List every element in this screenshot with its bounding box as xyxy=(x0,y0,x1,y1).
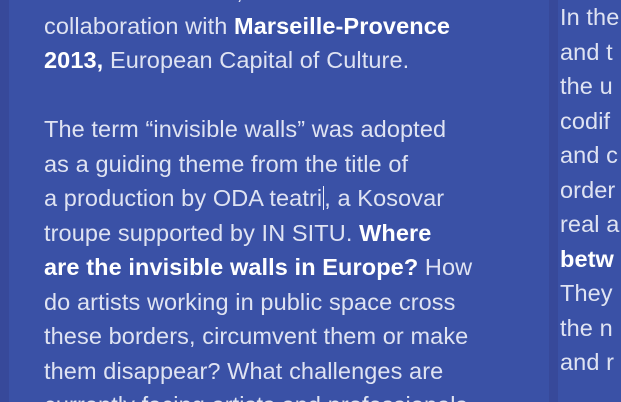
text-run-bold: 2013, xyxy=(44,47,103,73)
text-run: them disappear? What challenges are xyxy=(44,358,443,384)
text-line[interactable]: The term “invisible walls” was adopted xyxy=(44,112,544,147)
text-run: do artists working in public space cross xyxy=(44,289,456,315)
text-line[interactable]: betw xyxy=(560,242,621,277)
text-run: as a guiding theme from the title of xyxy=(44,151,408,177)
text-line[interactable]: the u xyxy=(560,69,621,104)
text-run: and t xyxy=(560,39,613,65)
text-line[interactable]: real a xyxy=(560,207,621,242)
text-run: collaboration with xyxy=(44,13,234,39)
text-run-bold: betw xyxy=(560,246,614,272)
text-run: these borders, circumvent them or make xyxy=(44,323,468,349)
text-run: order xyxy=(560,177,615,203)
text-run: In the xyxy=(560,4,619,30)
text-run: They xyxy=(560,280,613,306)
text-line[interactable]: do artists working in public space cross xyxy=(44,285,544,320)
text-line[interactable]: order xyxy=(560,173,621,208)
text-run: and r xyxy=(560,349,614,375)
text-line[interactable]: collaboration with Marseille-Provence xyxy=(44,9,544,44)
text-line[interactable]: as a guiding theme from the title of xyxy=(44,147,544,182)
text-run: and c xyxy=(560,142,618,168)
text-line[interactable]: are the invisible walls in Europe? How xyxy=(44,250,544,285)
text-run: real a xyxy=(560,211,619,237)
text-line[interactable]: In the xyxy=(560,0,621,35)
text-run: the Mediterranean, in xyxy=(44,0,268,4)
text-run: codif xyxy=(560,108,610,134)
text-run: the n xyxy=(560,315,613,341)
text-line[interactable]: and r xyxy=(560,345,621,380)
document-page: the Mediterranean, incollaboration with … xyxy=(0,0,621,402)
text-line[interactable]: troupe supported by IN SITU. Where xyxy=(44,216,544,251)
text-run-bold: Where xyxy=(359,220,431,246)
text-run: a production by ODA teatri xyxy=(44,185,322,211)
text-run: How xyxy=(418,254,472,280)
text-line[interactable]: They xyxy=(560,276,621,311)
text-run: currently facing artists and professiona… xyxy=(44,392,467,402)
text-run: European Capital of Culture. xyxy=(103,47,409,73)
column-gutter-divider xyxy=(549,0,558,402)
page-left-gutter xyxy=(0,0,9,402)
text-run: troupe supported by IN SITU. xyxy=(44,220,359,246)
text-line[interactable]: the n xyxy=(560,311,621,346)
text-run-bold: are the invisible walls in Europe? xyxy=(44,254,418,280)
text-line[interactable]: and c xyxy=(560,138,621,173)
text-line[interactable]: currently facing artists and professiona… xyxy=(44,388,544,402)
text-run: the u xyxy=(560,73,613,99)
text-line[interactable]: them disappear? What challenges are xyxy=(44,354,544,389)
text-run-bold: Marseille-Provence xyxy=(234,13,450,39)
text-line[interactable]: these borders, circumvent them or make xyxy=(44,319,544,354)
text-run: The term “invisible walls” was adopted xyxy=(44,116,446,142)
text-line[interactable]: codif xyxy=(560,104,621,139)
text-line[interactable]: the Mediterranean, in xyxy=(44,0,544,9)
text-line[interactable]: a production by ODA teatri, a Kosovar xyxy=(44,181,544,216)
text-column-left[interactable]: the Mediterranean, incollaboration with … xyxy=(44,0,544,402)
text-line[interactable]: 2013, European Capital of Culture. xyxy=(44,43,544,78)
text-column-right[interactable]: In theand tthe ucodifand corderreal abet… xyxy=(560,0,621,380)
paragraph-break xyxy=(44,78,544,113)
text-line[interactable]: and t xyxy=(560,35,621,70)
text-run: , a Kosovar xyxy=(324,185,444,211)
